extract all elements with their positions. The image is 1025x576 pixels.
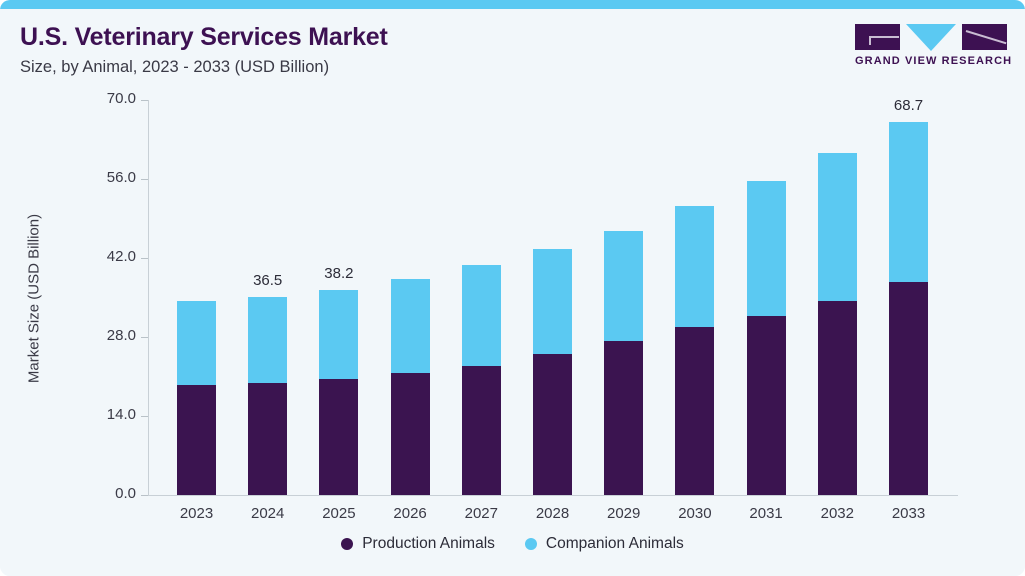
y-axis-line [148,100,149,496]
x-tick-label: 2023 [157,505,237,522]
y-tick-label: 42.0 [76,248,136,265]
bar-segment-companion-animals[interactable] [177,301,216,385]
bar-segment-production-animals[interactable] [675,327,714,495]
stacked-bar[interactable] [818,153,857,495]
legend-swatch-icon [525,538,537,550]
y-tick-label: 0.0 [76,485,136,502]
stacked-bar[interactable] [533,249,572,495]
legend-label: Production Animals [362,535,495,553]
y-tick-mark [141,337,148,338]
x-tick-label: 2030 [655,505,735,522]
x-tick-label: 2033 [869,505,949,522]
bar-value-label: 36.5 [228,272,308,289]
legend-label: Companion Animals [546,535,684,553]
chart-card: U.S. Veterinary Services Market Size, by… [0,0,1025,576]
bar-segment-production-animals[interactable] [177,385,216,495]
x-tick-label: 2025 [299,505,379,522]
bar-segment-companion-animals[interactable] [889,122,928,282]
stacked-bar[interactable] [747,181,786,495]
x-tick-label: 2026 [370,505,450,522]
y-tick-label: 56.0 [76,169,136,186]
bar-segment-companion-animals[interactable] [462,265,501,366]
x-tick-label: 2032 [797,505,877,522]
y-tick-mark [141,416,148,417]
bar-segment-companion-animals[interactable] [533,249,572,354]
y-tick-label: 14.0 [76,406,136,423]
stacked-bar[interactable] [248,297,287,495]
y-tick-label: 70.0 [76,90,136,107]
y-tick-mark [141,495,148,496]
bar-segment-companion-animals[interactable] [319,290,358,379]
bar-segment-companion-animals[interactable] [248,297,287,383]
legend-swatch-icon [341,538,353,550]
bar-value-label: 38.2 [299,265,379,282]
x-tick-label: 2027 [441,505,521,522]
stacked-bar[interactable] [462,265,501,495]
bar-segment-production-animals[interactable] [319,379,358,495]
bar-segment-production-animals[interactable] [747,316,786,495]
legend-item-companion-animals[interactable]: Companion Animals [525,535,684,553]
bar-segment-companion-animals[interactable] [604,231,643,341]
y-tick-mark [141,179,148,180]
y-axis-title: Market Size (USD Billion) [26,149,43,449]
bar-segment-companion-animals[interactable] [747,181,786,316]
y-tick-mark [141,100,148,101]
stacked-bar[interactable] [391,279,430,495]
bar-segment-production-animals[interactable] [604,341,643,495]
bar-segment-companion-animals[interactable] [675,206,714,327]
stacked-bar[interactable] [177,301,216,495]
bar-segment-production-animals[interactable] [889,282,928,495]
chart-legend: Production AnimalsCompanion Animals [0,535,1025,553]
stacked-bar[interactable] [604,231,643,495]
bar-segment-production-animals[interactable] [462,366,501,495]
bar-segment-production-animals[interactable] [391,373,430,495]
bar-segment-production-animals[interactable] [818,301,857,495]
x-tick-label: 2024 [228,505,308,522]
x-axis-line [148,495,958,496]
bar-segment-companion-animals[interactable] [818,153,857,301]
bar-value-label: 68.7 [869,97,949,114]
stacked-bar[interactable] [319,290,358,495]
stacked-bar[interactable] [675,206,714,495]
x-tick-label: 2028 [513,505,593,522]
bar-segment-production-animals[interactable] [248,383,287,495]
chart-plot-area: Market Size (USD Billion) 0.014.028.042.… [0,0,1025,576]
x-tick-label: 2029 [584,505,664,522]
bar-segment-companion-animals[interactable] [391,279,430,373]
y-tick-label: 28.0 [76,327,136,344]
legend-item-production-animals[interactable]: Production Animals [341,535,495,553]
x-tick-label: 2031 [726,505,806,522]
y-tick-mark [141,258,148,259]
bar-segment-production-animals[interactable] [533,354,572,495]
stacked-bar[interactable] [889,122,928,495]
